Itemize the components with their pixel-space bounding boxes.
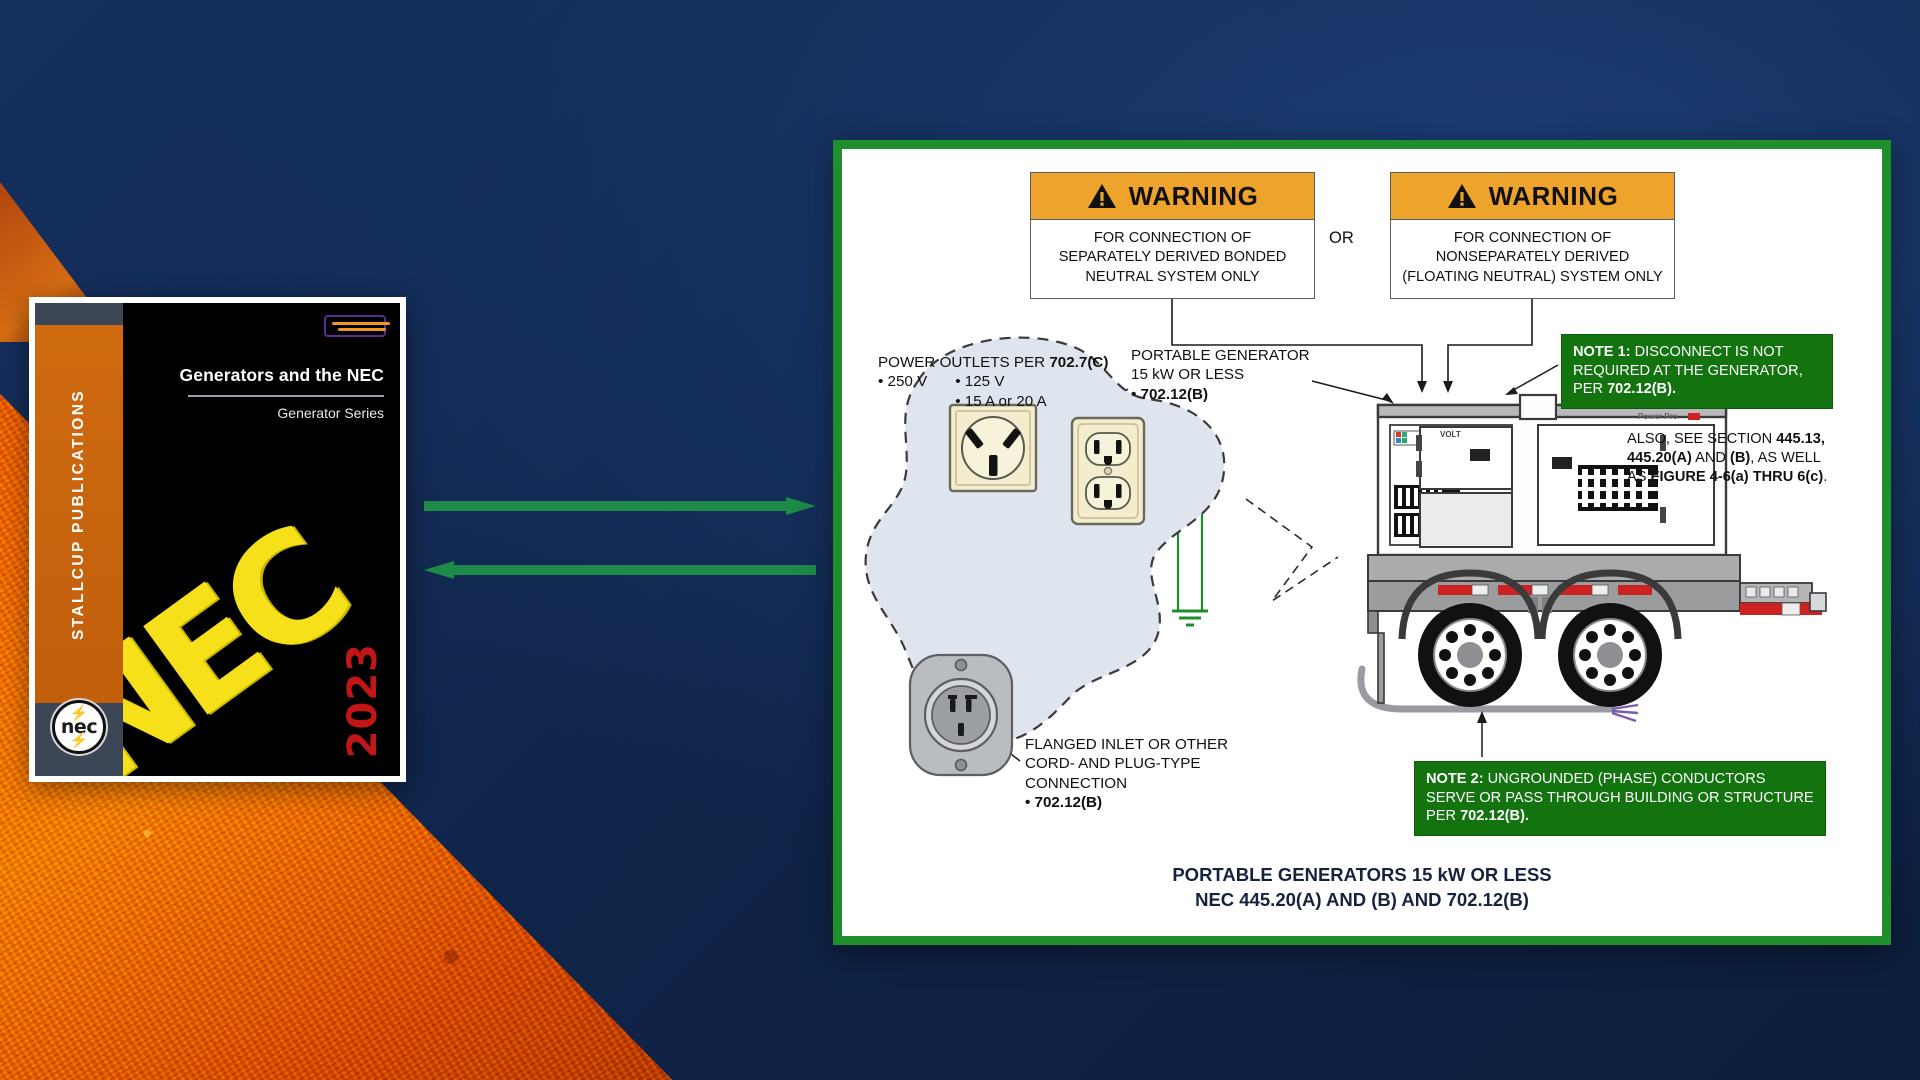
warning-triangle-icon — [1087, 183, 1117, 209]
warning-line: SEPARATELY DERIVED BONDED — [1039, 248, 1306, 267]
callout-power-outlets: POWER OUTLETS PER 702.7(C) • 250 V • 125… — [878, 353, 1130, 411]
arrow-left-icon — [424, 561, 816, 579]
warning-header: WARNING — [1391, 173, 1674, 220]
note-code: 702.12(B). — [1460, 808, 1529, 824]
receptacle-250v-icon — [948, 403, 1038, 493]
callout-title-code: 702.7(C) — [1049, 354, 1108, 371]
svg-text:VOLT: VOLT — [1440, 430, 1461, 439]
callout-title-prefix: POWER OUTLETS PER — [878, 354, 1049, 371]
warning-header: WARNING — [1031, 173, 1314, 220]
edition-year: 2023 — [340, 643, 386, 758]
warning-line: NONSEPARATELY DERIVED — [1399, 248, 1666, 267]
callout-also-see-section: ALSO, SEE SECTION 445.13, 445.20(A) AND … — [1627, 430, 1837, 487]
callout-bullet: • 15 A or 20 A — [955, 392, 1046, 411]
warning-line: NEUTRAL SYSTEM ONLY — [1039, 268, 1306, 287]
book-cover[interactable]: STALLCUP PUBLICATIONS ⚡ nec ⚡ Generators… — [29, 297, 406, 782]
also-code-4: FIGURE 4-6(a) THRU 6(c) — [1651, 469, 1824, 485]
also-part-2: AND — [1692, 450, 1730, 466]
warning-box-nonseparately-derived: WARNING FOR CONNECTION OF NONSEPARATELY … — [1390, 172, 1675, 299]
book-title: Generators and the NEC — [141, 365, 384, 386]
callout-flanged-inlet: FLANGED INLET OR OTHER CORD- AND PLUG-TY… — [1025, 735, 1255, 812]
figure-caption-line-2: NEC 445.20(A) AND (B) AND 702.12(B) — [842, 887, 1882, 912]
gb-logo-icon — [324, 315, 386, 337]
callout-line: CONNECTION — [1025, 774, 1255, 793]
warning-triangle-icon — [1447, 183, 1477, 209]
also-code-1: 445.13, — [1776, 431, 1825, 447]
spine-publisher-label: STALLCUP PUBLICATIONS — [35, 325, 123, 703]
arrow-right-icon — [424, 497, 816, 515]
lightning-bolt-icon: ⚡ — [70, 733, 89, 748]
flanged-inlet-icon — [904, 649, 1018, 781]
figure-caption-line-1: PORTABLE GENERATORS 15 kW OR LESS — [842, 862, 1882, 887]
callout-bullet: • 250 V — [878, 372, 927, 411]
title-divider — [188, 395, 384, 397]
warning-body: FOR CONNECTION OF NONSEPARATELY DERIVED … — [1391, 220, 1674, 298]
also-part-4: . — [1823, 469, 1827, 485]
warning-line: FOR CONNECTION OF — [1399, 229, 1666, 248]
book-spine: STALLCUP PUBLICATIONS ⚡ nec ⚡ — [35, 303, 123, 776]
note-box-2: NOTE 2: UNGROUNDED (PHASE) CONDUCTORS SE… — [1414, 761, 1826, 836]
warning-heading-label: WARNING — [1489, 181, 1619, 212]
callout-line: PORTABLE GENERATOR — [1131, 346, 1351, 365]
callout-bullet: • 125 V — [955, 372, 1046, 391]
warning-line: (FLOATING NEUTRAL) SYSTEM ONLY — [1399, 268, 1666, 287]
book-subtitle: Generator Series — [141, 405, 384, 421]
warning-body: FOR CONNECTION OF SEPARATELY DERIVED BON… — [1031, 220, 1314, 298]
also-part-1: ALSO, SEE SECTION — [1627, 431, 1776, 447]
figure-caption: PORTABLE GENERATORS 15 kW OR LESS NEC 44… — [842, 862, 1882, 912]
book-cover-face: Generators and the NEC Generator Series … — [123, 303, 400, 776]
receptacle-125v-duplex-icon — [1070, 416, 1146, 526]
nec-wordmark-art: NEC — [123, 508, 366, 776]
also-code-2: 445.20(A) — [1627, 450, 1692, 466]
figure-canvas: WARNING FOR CONNECTION OF SEPARATELY DER… — [842, 149, 1882, 936]
callout-line: FLANGED INLET OR OTHER — [1025, 735, 1255, 754]
note-code: 702.12(B). — [1607, 381, 1676, 397]
callout-bullet: • 702.12(B) — [1025, 794, 1102, 811]
warning-box-separately-derived: WARNING FOR CONNECTION OF SEPARATELY DER… — [1030, 172, 1315, 299]
note-label: NOTE 2: — [1426, 771, 1484, 787]
or-connector-label: OR — [1329, 229, 1354, 248]
also-code-3: (B) — [1730, 450, 1750, 466]
note-box-1: NOTE 1: DISCONNECT IS NOT REQUIRED AT TH… — [1561, 334, 1833, 409]
callout-bullet: • 702.12(B) — [1131, 386, 1208, 403]
warning-line: FOR CONNECTION OF — [1039, 229, 1306, 248]
nec-badge-icon: ⚡ nec ⚡ — [52, 700, 106, 754]
callout-line: CORD- AND PLUG-TYPE — [1025, 754, 1255, 773]
lightning-bolt-icon: ⚡ — [70, 706, 89, 721]
book-cover-inner: STALLCUP PUBLICATIONS ⚡ nec ⚡ Generators… — [35, 303, 400, 776]
note-label: NOTE 1: — [1573, 344, 1631, 360]
warning-heading-label: WARNING — [1129, 181, 1259, 212]
callout-portable-generator: PORTABLE GENERATOR 15 kW OR LESS • 702.1… — [1131, 346, 1351, 404]
callout-line: 15 kW OR LESS — [1131, 365, 1351, 384]
figure-panel[interactable]: WARNING FOR CONNECTION OF SEPARATELY DER… — [833, 140, 1891, 945]
callout-title: POWER OUTLETS PER 702.7(C) — [878, 353, 1130, 372]
svg-text:Power Pro: Power Pro — [1638, 412, 1678, 421]
